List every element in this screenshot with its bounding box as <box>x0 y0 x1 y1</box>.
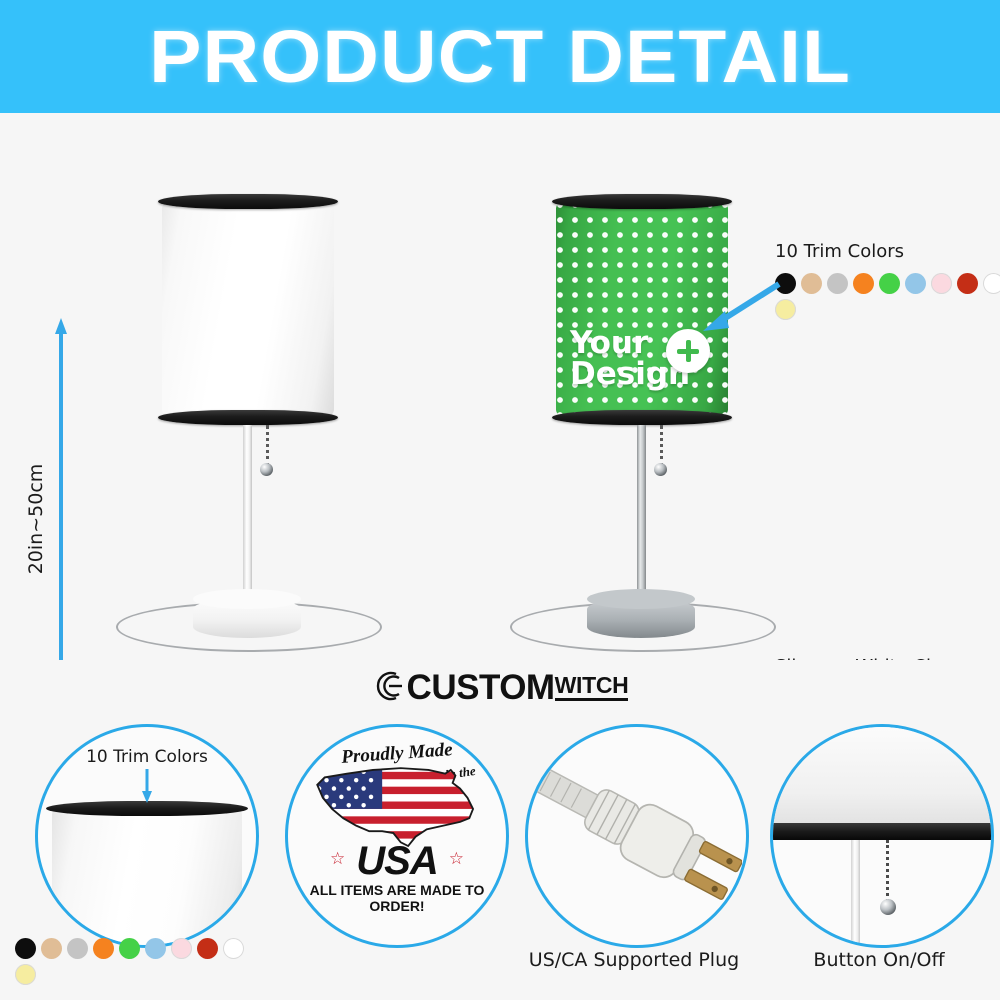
swatch-red[interactable] <box>197 938 218 959</box>
shade-surface <box>162 201 334 417</box>
arrow-down-icon <box>140 769 154 803</box>
shade-top-trim <box>552 194 732 209</box>
panel-trim-colors: 10 Trim Colors <box>35 724 259 948</box>
swatch-white[interactable] <box>983 273 1000 294</box>
swatch-black[interactable] <box>15 938 36 959</box>
lamp-left-white <box>0 113 420 705</box>
trim-color-swatches[interactable] <box>15 938 251 985</box>
swatch-light-blue[interactable] <box>905 273 926 294</box>
shade-bottom-trim <box>552 410 732 425</box>
usa-badge-word: USA <box>288 839 506 884</box>
page-title: PRODUCT DETAIL <box>149 20 851 94</box>
pull-chain <box>266 425 272 467</box>
shade-closeup <box>770 724 994 825</box>
swatch-orange[interactable] <box>853 273 874 294</box>
header-banner: PRODUCT DETAIL <box>0 0 1000 113</box>
swatch-green[interactable] <box>879 273 900 294</box>
swatch-gray[interactable] <box>827 273 848 294</box>
shade-trim-closeup <box>46 801 248 816</box>
lamp-stem-closeup <box>851 840 860 948</box>
panel-button-caption: Button On/Off <box>770 949 988 971</box>
lamp-base-top <box>587 589 695 609</box>
swatch-orange[interactable] <box>93 938 114 959</box>
logo-main-text: CUSTOM <box>407 672 555 704</box>
lamp-right-custom: Your Design <box>400 113 820 705</box>
pull-chain-ball-closeup <box>880 899 896 915</box>
shade-top-trim <box>158 194 338 209</box>
lamp-shade-blank <box>162 201 334 417</box>
swatch-tan[interactable] <box>801 273 822 294</box>
shade-bottom-trim <box>158 410 338 425</box>
trim-colors-group: 10 Trim Colors <box>775 241 1000 320</box>
panel-button <box>770 724 994 948</box>
panel-plug-caption: US/CA Supported Plug <box>525 949 743 971</box>
arrow-to-shade-trim <box>695 278 785 334</box>
shade-closeup <box>52 807 242 948</box>
main-stage: 7in~18cm 20in~50cm <box>0 113 1000 705</box>
pull-chain-ball <box>654 463 667 476</box>
pull-chain <box>660 425 666 467</box>
product-detail-page: PRODUCT DETAIL 7in~18cm 20in~50cm <box>0 0 1000 1000</box>
bottom-trim-color-swatches[interactable] <box>15 938 251 985</box>
brand-logo: CUSTOM WITCH <box>372 669 629 703</box>
swatch-red[interactable] <box>957 273 978 294</box>
usa-badge: Proudly Made in the <box>288 727 506 945</box>
panel-made-in-usa: Proudly Made in the <box>285 724 509 948</box>
pull-chain-ball <box>260 463 273 476</box>
logo-c-icon <box>372 669 406 703</box>
swatch-pink[interactable] <box>931 273 952 294</box>
swatch-yellow[interactable] <box>15 964 36 985</box>
swatch-gray[interactable] <box>67 938 88 959</box>
brand-logo-bar: CUSTOM WITCH <box>0 660 1000 712</box>
swatch-pink[interactable] <box>171 938 192 959</box>
swatch-light-blue[interactable] <box>145 938 166 959</box>
feature-panels: 10 Trim Colors Proudly Made in the <box>0 712 1000 1000</box>
logo-sub-text: WITCH <box>555 674 629 701</box>
plus-icon <box>666 329 710 373</box>
trim-colors-title: 10 Trim Colors <box>775 241 1000 262</box>
trim-color-swatches[interactable] <box>775 273 1000 320</box>
swatch-tan[interactable] <box>41 938 62 959</box>
panel-trim-colors-label: 10 Trim Colors <box>86 747 208 767</box>
pull-chain-closeup <box>886 840 889 902</box>
usa-star-right-icon: ☆ <box>449 849 464 869</box>
power-plug-icon <box>536 747 742 927</box>
lamp-base-top <box>193 589 301 609</box>
panel-plug <box>525 724 749 948</box>
swatch-green[interactable] <box>119 938 140 959</box>
usa-badge-subtext: ALL ITEMS ARE MADE TO ORDER! <box>288 882 506 914</box>
swatch-white[interactable] <box>223 938 244 959</box>
shade-trim-closeup <box>770 823 994 840</box>
